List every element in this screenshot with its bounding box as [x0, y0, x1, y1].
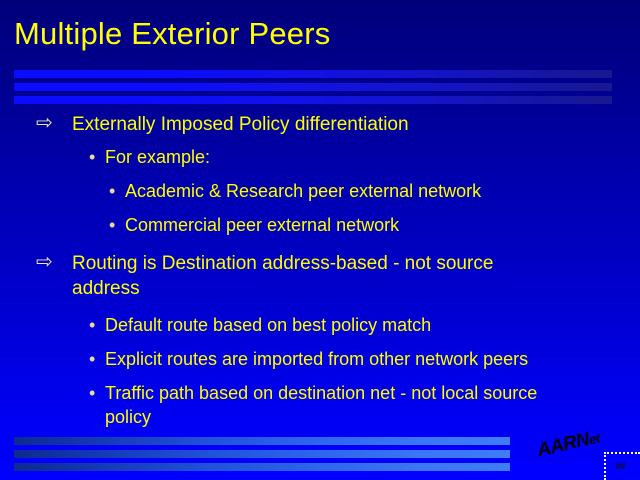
bullet-text: Explicit routes are imported from other …	[105, 349, 528, 369]
decorative-bar	[14, 437, 510, 445]
bullet-text: For example:	[105, 147, 210, 167]
bullet-dot-icon: •	[109, 179, 115, 203]
arrow-right-outline-icon: ⇨	[36, 114, 58, 132]
bullet-item-level1: ⇨ Externally Imposed Policy differentiat…	[72, 112, 560, 137]
decorative-bar	[14, 96, 612, 104]
bullet-item-level3: • Commercial peer external network	[125, 213, 560, 237]
bullet-dot-icon: •	[89, 145, 95, 169]
bullet-text: Routing is Destination address-based - n…	[72, 253, 493, 299]
arrow-right-outline-icon: ⇨	[36, 253, 58, 271]
bullet-text: Academic & Research peer external networ…	[125, 181, 481, 201]
slide-body: ⇨ Externally Imposed Policy differentiat…	[0, 112, 640, 439]
logo-suffix-text: et	[588, 430, 602, 447]
bullet-dot-icon: •	[89, 381, 95, 405]
slide-number-box: ##	[604, 452, 640, 480]
bullet-item-level2: • Explicit routes are imported from othe…	[105, 347, 550, 371]
decorative-bar	[14, 70, 612, 78]
bullet-dot-icon: •	[109, 213, 115, 237]
bullet-dot-icon: •	[89, 313, 95, 337]
bullet-item-level2: • Default route based on best policy mat…	[105, 313, 550, 337]
bullet-text: Externally Imposed Policy differentiatio…	[72, 114, 409, 135]
bottom-decorative-bars	[14, 437, 510, 471]
bullet-item-level1: ⇨ Routing is Destination address-based -…	[72, 251, 560, 301]
bullet-text: Commercial peer external network	[125, 215, 399, 235]
slide-title: Multiple Exterior Peers	[14, 16, 624, 52]
decorative-bar	[14, 463, 510, 471]
bullet-dot-icon: •	[89, 347, 95, 371]
top-decorative-bars	[14, 70, 612, 104]
bullet-text: Traffic path based on destination net - …	[105, 383, 537, 427]
bullet-item-level2: • Traffic path based on destination net …	[105, 381, 550, 429]
bullet-text: Default route based on best policy match	[105, 315, 431, 335]
decorative-bar	[14, 83, 612, 91]
presentation-slide: Multiple Exterior Peers ⇨ Externally Imp…	[0, 0, 640, 480]
bullet-item-level2: • For example:	[105, 145, 550, 169]
bullet-item-level3: • Academic & Research peer external netw…	[125, 179, 560, 203]
decorative-bar	[14, 450, 510, 458]
slide-number: ##	[616, 461, 625, 471]
